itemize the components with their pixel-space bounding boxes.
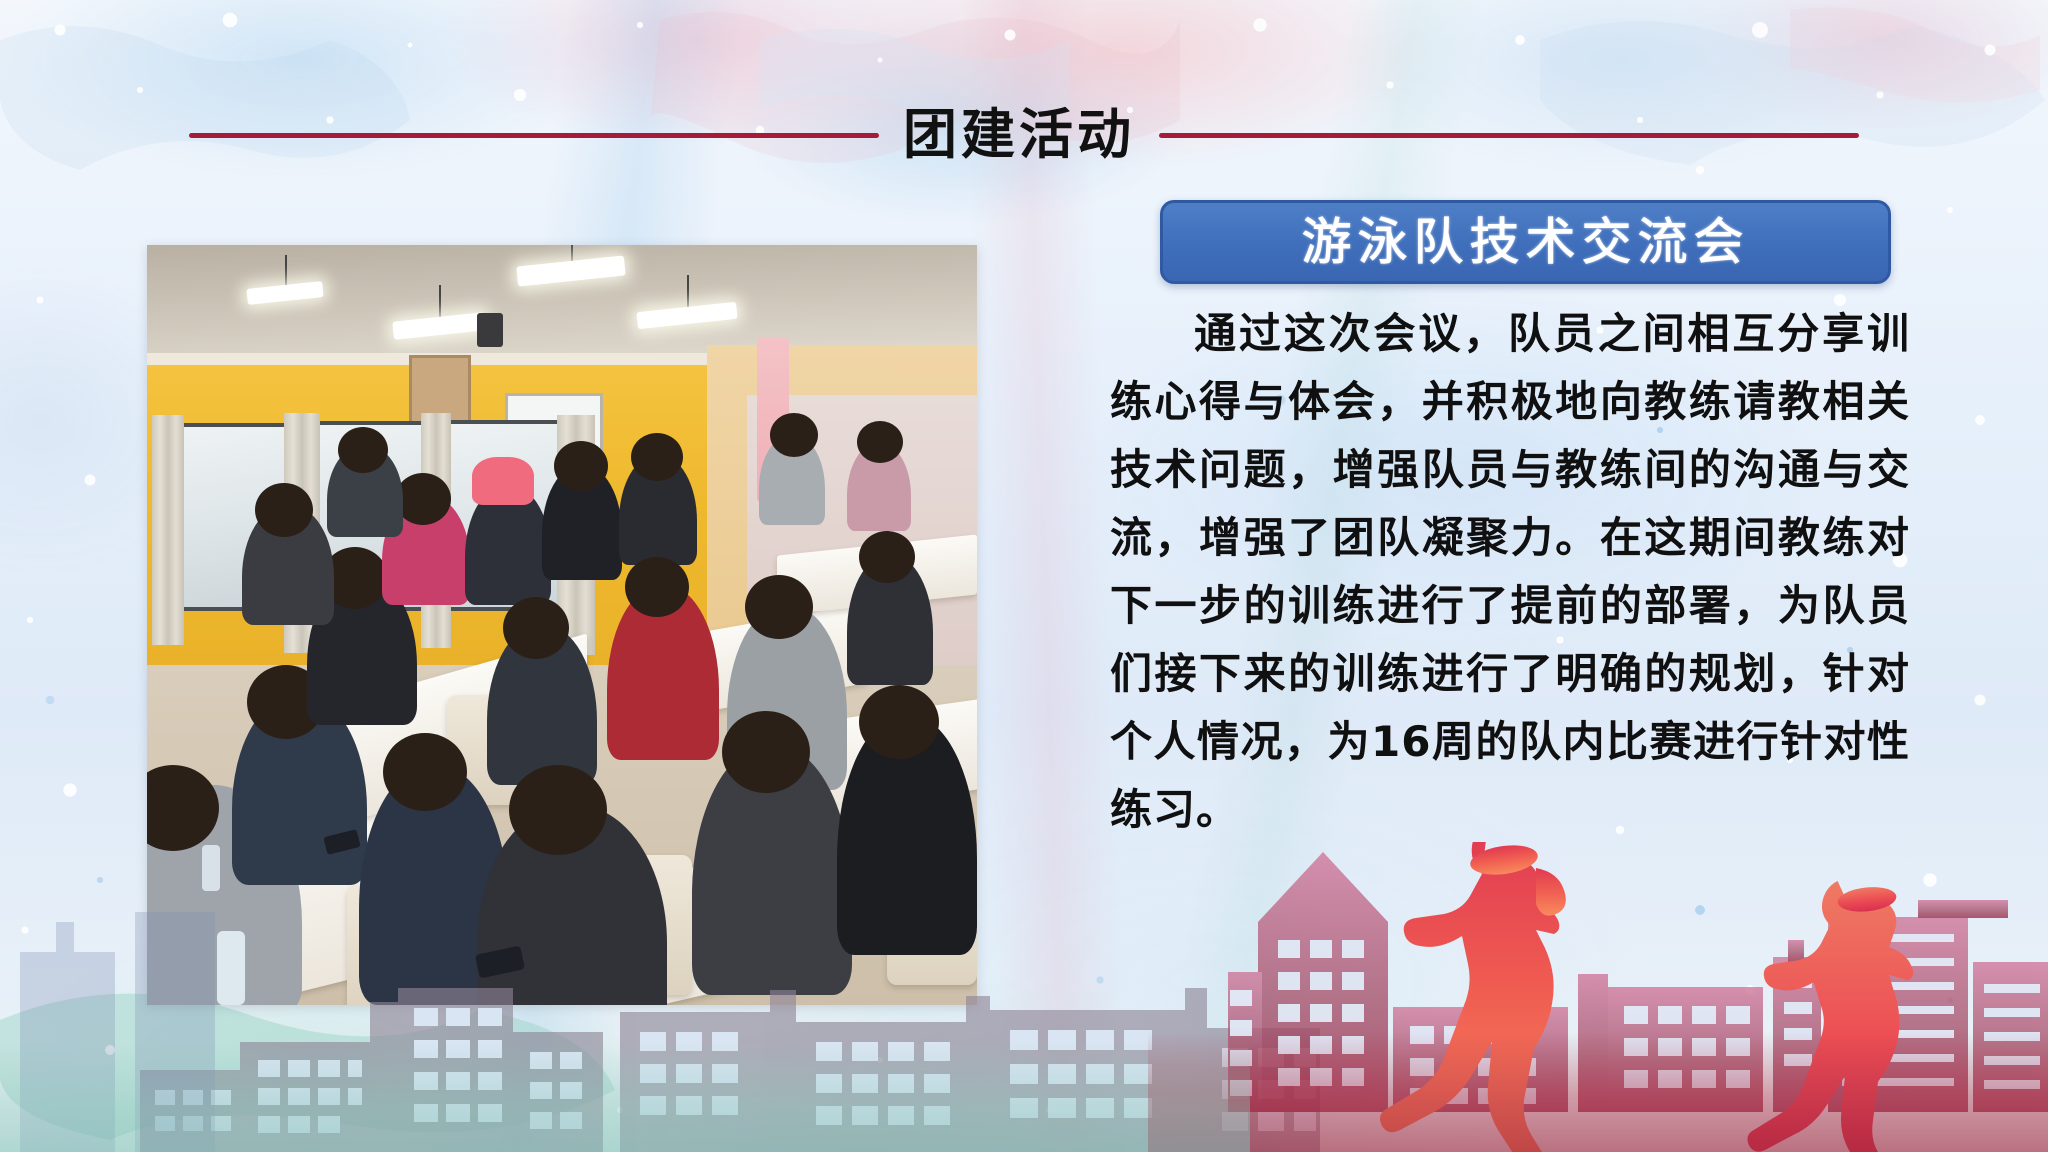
coach-right-head	[857, 421, 903, 463]
lamp-stem-4	[687, 275, 689, 309]
title-rule-left	[189, 133, 879, 138]
section-banner: 游泳队技术交流会	[1160, 200, 1891, 284]
attendee-6-head	[338, 427, 388, 473]
attendee-17-head	[859, 531, 915, 583]
attendee-11-head	[625, 557, 689, 617]
attendee-9-head	[631, 433, 683, 481]
attendee-7-cap	[472, 457, 534, 505]
attendee-15-head	[722, 711, 810, 793]
attendee-12-head	[745, 575, 813, 639]
lamp-stem-1	[285, 255, 287, 287]
attendee-14-head	[509, 765, 607, 855]
attendee-5-head	[395, 473, 451, 525]
attendee-8-head	[554, 441, 608, 491]
attendee-13-head	[383, 733, 467, 811]
wall-speaker	[477, 313, 503, 347]
curtain-1	[152, 415, 184, 645]
page-title: 团建活动	[903, 108, 1135, 162]
body-paragraph: 通过这次会议，队员之间相互分享训练心得与体会，并积极地向教练请教相关技术问题，增…	[1110, 300, 1910, 844]
water-bottle-2	[202, 845, 220, 891]
attendee-10-head	[503, 597, 569, 659]
coach-left-head	[770, 413, 818, 457]
section-banner-title: 游泳队技术交流会	[1302, 217, 1750, 267]
meeting-photo	[147, 245, 977, 1005]
water-bottle-1	[217, 931, 245, 1005]
slide-root: 团建活动	[0, 0, 2048, 1152]
slide-header: 团建活动	[0, 95, 2048, 175]
attendee-4-head	[255, 483, 313, 537]
attendee-16-head	[859, 685, 939, 759]
title-rule-right	[1159, 133, 1859, 138]
lamp-stem-2	[439, 285, 441, 319]
